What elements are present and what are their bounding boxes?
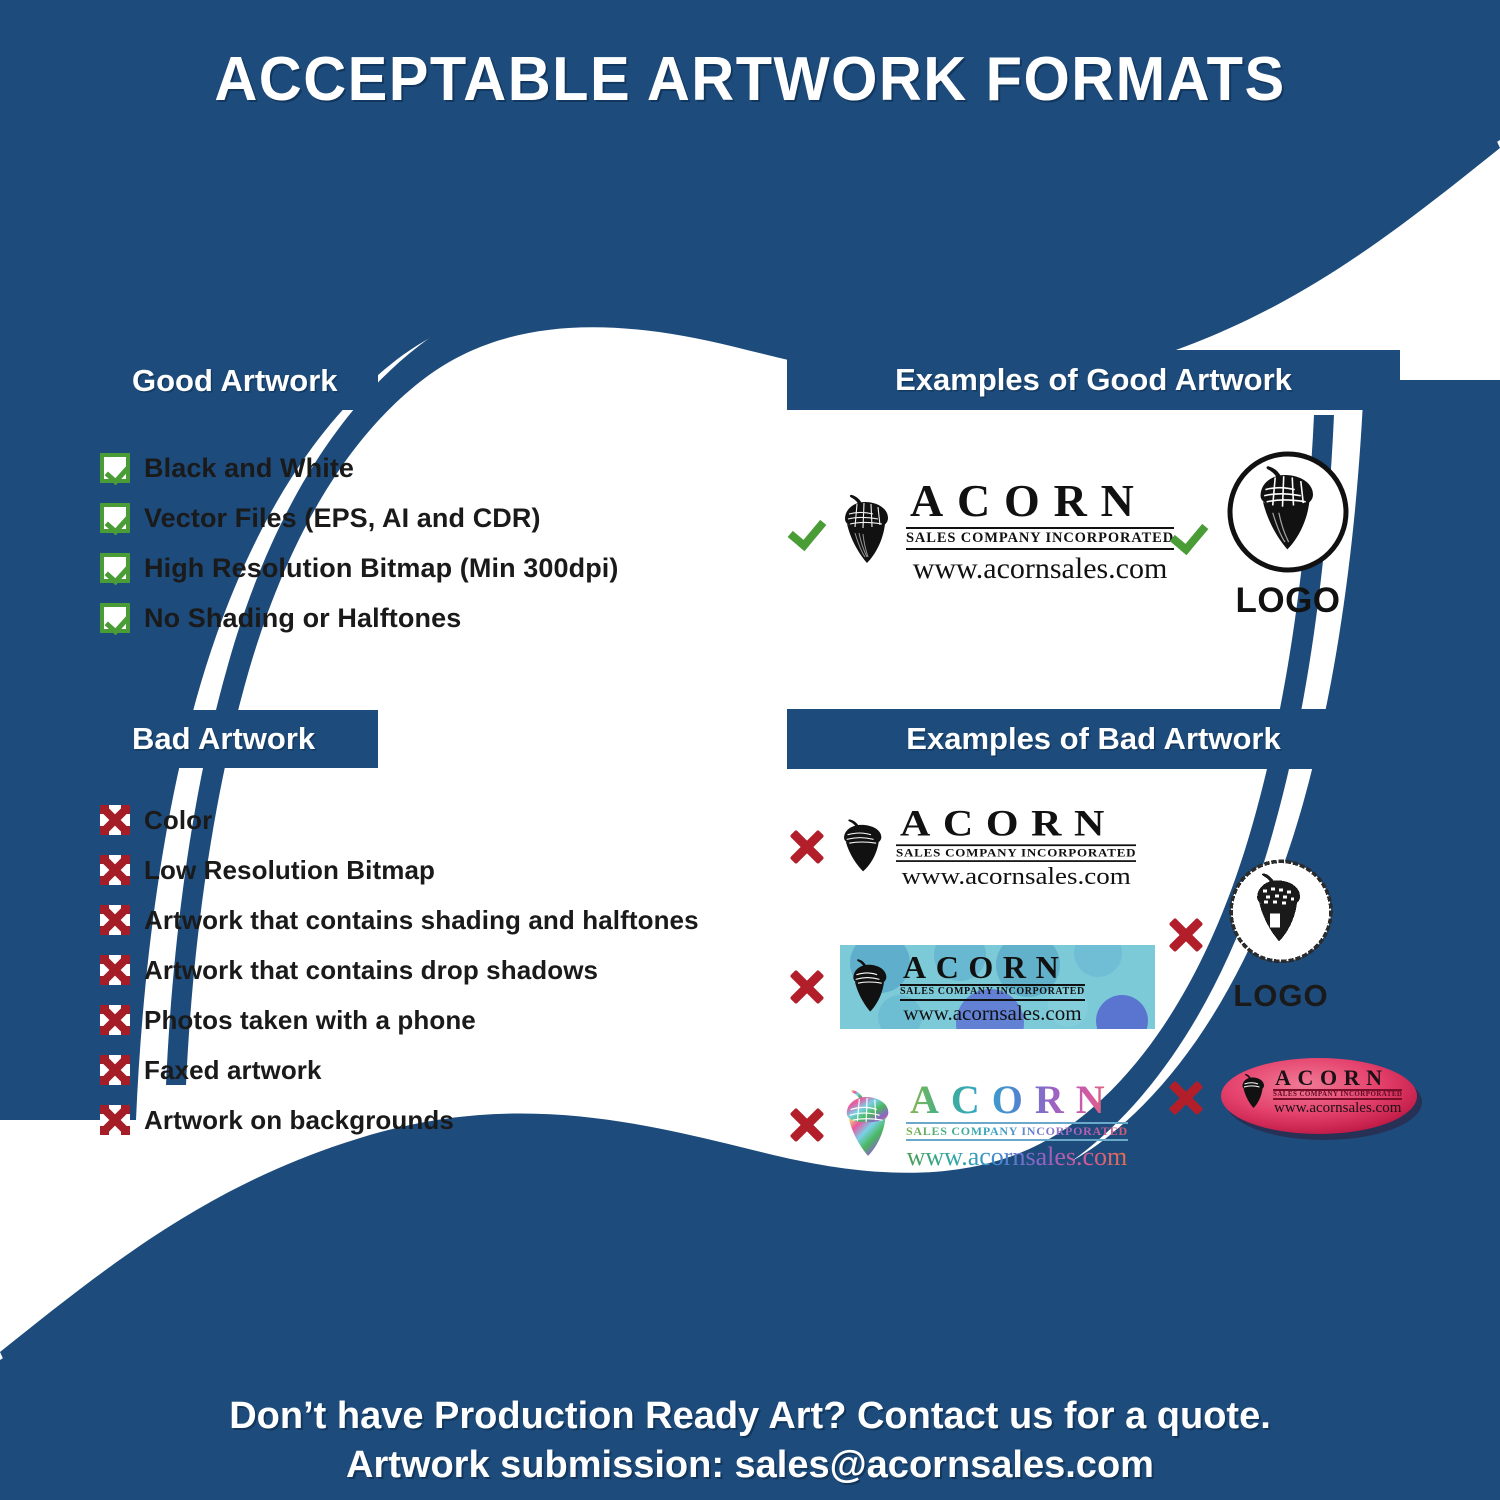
examples-good-heading-bar: Examples of Good Artwork bbox=[787, 350, 1400, 410]
infographic-root: ACCEPTABLE ARTWORK FORMATS Good Artwork … bbox=[0, 0, 1500, 1500]
examples-good-heading-label: Examples of Good Artwork bbox=[895, 362, 1292, 398]
acorn-wordmark: ACORN bbox=[1273, 1067, 1402, 1089]
good-example-lockup: ACORN SALES COMPANY INCORPORATED www.aco… bbox=[786, 478, 1174, 585]
bad-item-label: Low Resolution Bitmap bbox=[144, 855, 435, 886]
examples-bad-heading-bar: Examples of Bad Artwork bbox=[787, 709, 1400, 769]
acorn-logo-oval: ACORN SALES COMPANY INCORPORATED www.aco… bbox=[1217, 1055, 1429, 1141]
examples-bad-heading-label: Examples of Bad Artwork bbox=[906, 721, 1280, 757]
acorn-url: www.acornsales.com bbox=[1273, 1101, 1402, 1117]
acorn-wordmark: ACORN bbox=[906, 478, 1174, 524]
acorn-logo-lockup: ACORN SALES COMPANY INCORPORATED www.aco… bbox=[838, 806, 1136, 889]
logo-badge-label: LOGO bbox=[1221, 978, 1341, 1014]
acorn-tagline: SALES COMPANY INCORPORATED bbox=[906, 531, 1174, 546]
cross-icon bbox=[1165, 1077, 1207, 1119]
footer-line-1: Don’t have Production Ready Art? Contact… bbox=[0, 1392, 1500, 1441]
bad-item-label: Photos taken with a phone bbox=[144, 1005, 476, 1036]
bad-item-label: Artwork that contains drop shadows bbox=[144, 955, 598, 986]
acorn-wordmark: ACORN bbox=[900, 951, 1085, 983]
footer-line-2: Artwork submission: sales@acornsales.com bbox=[0, 1441, 1500, 1490]
cross-icon bbox=[786, 966, 828, 1008]
list-item: Artwork that contains shading and halfto… bbox=[100, 895, 699, 945]
acorn-circle-icon bbox=[1222, 448, 1354, 580]
acorn-circle-badge-pixelated: LOGO bbox=[1221, 855, 1341, 1014]
good-artwork-heading-label: Good Artwork bbox=[132, 363, 338, 399]
acorn-icon bbox=[1239, 1070, 1269, 1114]
good-item-label: High Resolution Bitmap (Min 300dpi) bbox=[144, 553, 619, 584]
check-icon bbox=[1168, 514, 1210, 556]
bad-artwork-list: Color Low Resolution Bitmap Artwork that… bbox=[100, 795, 699, 1145]
acorn-wordmark: ACORN bbox=[906, 1080, 1128, 1120]
bad-item-label: Faxed artwork bbox=[144, 1055, 322, 1086]
checkbox-check-icon bbox=[100, 553, 144, 583]
bad-example-drop-shadow: ACORN SALES COMPANY INCORPORATED www.aco… bbox=[1165, 1055, 1429, 1141]
list-item: Photos taken with a phone bbox=[100, 995, 699, 1045]
list-item: Artwork that contains drop shadows bbox=[100, 945, 699, 995]
acorn-circle-badge: LOGO bbox=[1222, 448, 1354, 621]
bad-item-label: Artwork that contains shading and halfto… bbox=[144, 905, 699, 936]
acorn-tagline: SALES COMPANY INCORPORATED bbox=[906, 1125, 1128, 1138]
acorn-url: www.acornsales.com bbox=[900, 1002, 1085, 1024]
cross-icon bbox=[786, 826, 828, 868]
checkbox-cross-icon bbox=[100, 805, 144, 835]
bad-example-color: ACORN SALES COMPANY INCORPORATED www.aco… bbox=[786, 1080, 1128, 1170]
checkbox-check-icon bbox=[100, 503, 144, 533]
bad-item-label: Artwork on backgrounds bbox=[144, 1105, 454, 1136]
checkbox-check-icon bbox=[100, 453, 144, 483]
acorn-circle-icon bbox=[1221, 855, 1341, 975]
list-item: Black and White bbox=[100, 443, 619, 493]
list-item: High Resolution Bitmap (Min 300dpi) bbox=[100, 543, 619, 593]
list-item: Color bbox=[100, 795, 699, 845]
acorn-tagline: SALES COMPANY INCORPORATED bbox=[896, 847, 1136, 859]
checkbox-cross-icon bbox=[100, 1055, 144, 1085]
list-item: No Shading or Halftones bbox=[100, 593, 619, 643]
good-artwork-list: Black and White Vector Files (EPS, AI an… bbox=[100, 443, 619, 643]
list-item: Vector Files (EPS, AI and CDR) bbox=[100, 493, 619, 543]
checkbox-cross-icon bbox=[100, 1105, 144, 1135]
acorn-icon bbox=[838, 493, 898, 569]
acorn-url: www.acornsales.com bbox=[906, 1143, 1128, 1170]
good-item-label: Black and White bbox=[144, 453, 354, 484]
acorn-wordmark: ACORN bbox=[896, 806, 1136, 843]
acorn-url: www.acornsales.com bbox=[906, 553, 1174, 585]
list-item: Low Resolution Bitmap bbox=[100, 845, 699, 895]
acorn-tagline: SALES COMPANY INCORPORATED bbox=[900, 987, 1085, 998]
acorn-logo-lockup: ACORN SALES COMPANY INCORPORATED www.aco… bbox=[838, 478, 1174, 585]
cross-icon bbox=[1165, 914, 1207, 956]
good-example-badge: LOGO bbox=[1168, 448, 1354, 621]
good-item-label: Vector Files (EPS, AI and CDR) bbox=[144, 503, 541, 534]
bad-artwork-heading-bar: Bad Artwork bbox=[100, 710, 378, 768]
checkbox-check-icon bbox=[100, 603, 144, 633]
logo-badge-label: LOGO bbox=[1222, 581, 1354, 621]
bad-example-pixelated-badge: LOGO bbox=[1165, 855, 1341, 1014]
check-icon bbox=[786, 510, 828, 552]
good-item-label: No Shading or Halftones bbox=[144, 603, 461, 634]
acorn-tagline: SALES COMPANY INCORPORATED bbox=[1273, 1091, 1402, 1098]
acorn-icon bbox=[838, 815, 890, 878]
acorn-wordmark-block: ACORN SALES COMPANY INCORPORATED www.aco… bbox=[906, 478, 1174, 585]
list-item: Faxed artwork bbox=[100, 1045, 699, 1095]
acorn-icon bbox=[848, 956, 894, 1018]
footer-contact: Don’t have Production Ready Art? Contact… bbox=[0, 1392, 1500, 1491]
checkbox-cross-icon bbox=[100, 955, 144, 985]
good-artwork-heading-bar: Good Artwork bbox=[100, 352, 378, 410]
acorn-logo-rainbow: ACORN SALES COMPANY INCORPORATED www.aco… bbox=[840, 1080, 1128, 1170]
list-item: Artwork on backgrounds bbox=[100, 1095, 699, 1145]
acorn-icon bbox=[840, 1088, 898, 1162]
bad-artwork-heading-label: Bad Artwork bbox=[132, 721, 315, 757]
checkbox-cross-icon bbox=[100, 855, 144, 885]
bad-example-distorted: ACORN SALES COMPANY INCORPORATED www.aco… bbox=[786, 800, 1136, 894]
acorn-url: www.acornsales.com bbox=[896, 863, 1136, 888]
bad-item-label: Color bbox=[144, 805, 212, 836]
bad-example-background: ACORN SALES COMPANY INCORPORATED www.aco… bbox=[786, 945, 1155, 1029]
checkbox-cross-icon bbox=[100, 905, 144, 935]
checkbox-cross-icon bbox=[100, 1005, 144, 1035]
acorn-logo-on-background: ACORN SALES COMPANY INCORPORATED www.aco… bbox=[840, 945, 1155, 1029]
page-title: ACCEPTABLE ARTWORK FORMATS bbox=[30, 44, 1470, 115]
cross-icon bbox=[786, 1104, 828, 1146]
